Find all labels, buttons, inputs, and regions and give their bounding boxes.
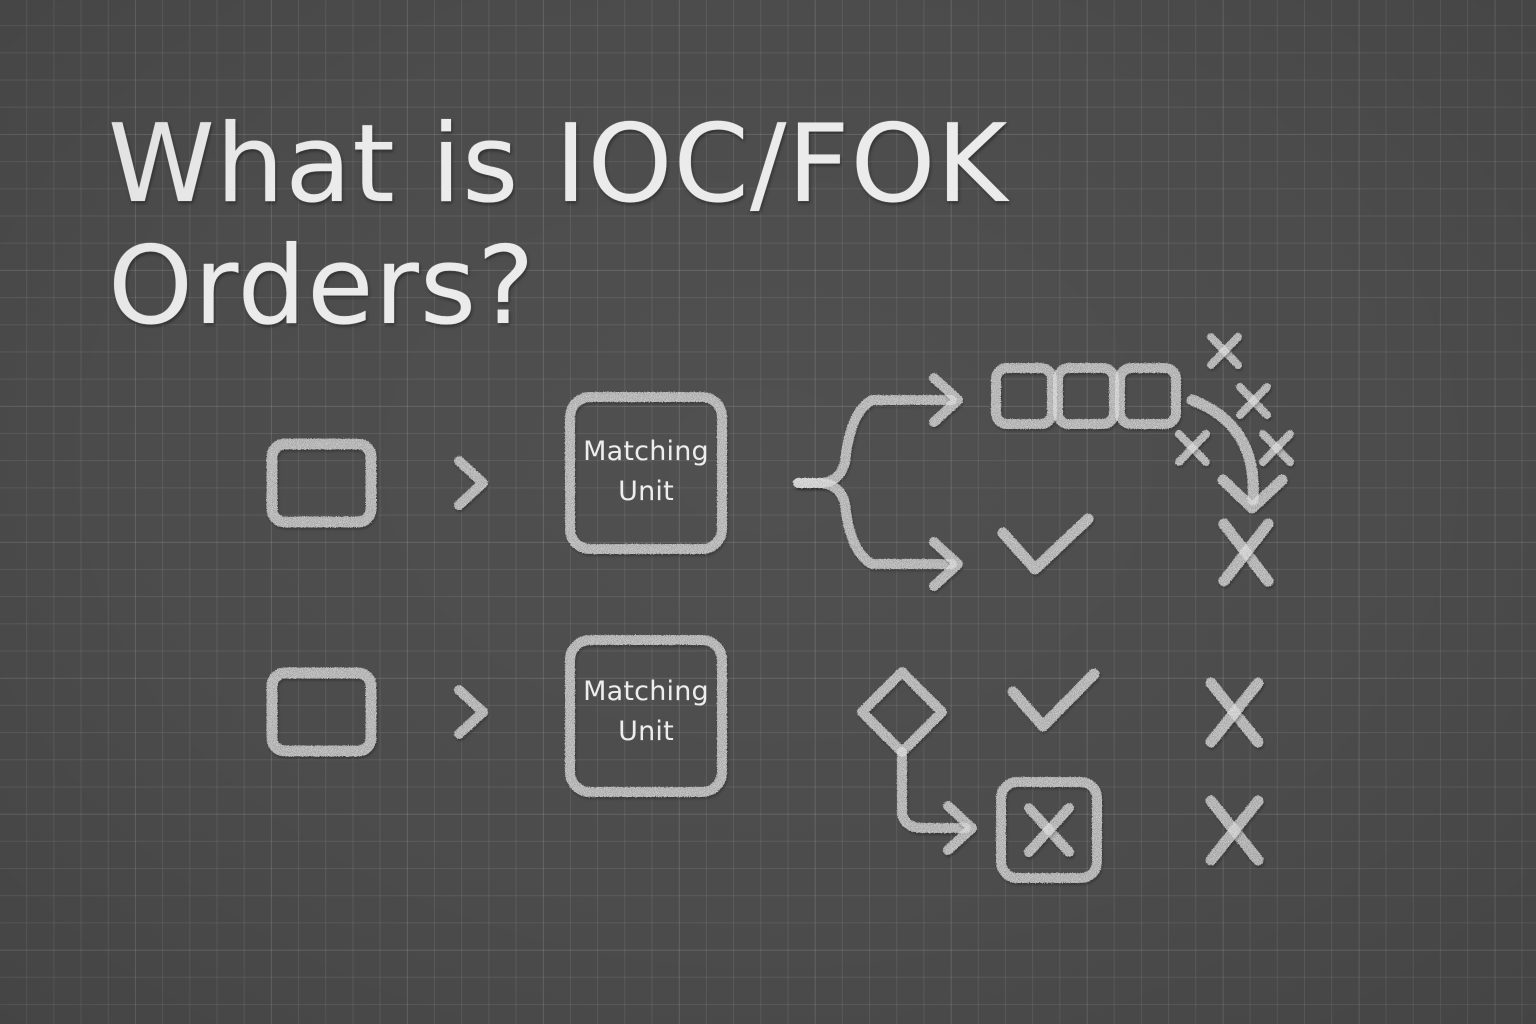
diagram-canvas: Matching Unit <box>0 0 1536 1024</box>
input-stream-dashes <box>506 435 544 531</box>
small-x-icon-right <box>1263 434 1290 462</box>
cancel-remainder-x-icon <box>1224 524 1268 581</box>
fill-all-check-icon <box>1013 674 1094 726</box>
input-arrow-icon <box>398 461 483 505</box>
partial-fill-check-icon <box>1003 519 1088 569</box>
output-stream-dashes <box>748 664 786 760</box>
small-x-icon-top <box>1211 337 1238 365</box>
matching-unit-label-line1: Matching <box>583 676 709 707</box>
matching-unit-box: Matching Unit <box>570 640 722 792</box>
matching-unit-box: Matching Unit <box>570 397 722 549</box>
reject-x-icon-bottom <box>1211 801 1258 860</box>
input-arrow-icon <box>398 690 483 734</box>
small-x-icon-left <box>1179 434 1206 462</box>
split-brace <box>798 378 958 586</box>
reject-x-icon-top <box>1211 683 1258 742</box>
filled-orders-squares <box>996 368 1176 424</box>
chalkboard-slide: What is IOC/FOK Orders? <box>0 0 1536 1024</box>
matching-unit-label-line1: Matching <box>583 436 709 467</box>
matching-unit-label-line2: Unit <box>618 716 674 747</box>
small-x-icon-upper-right <box>1240 387 1267 415</box>
input-stream-dashes <box>506 664 544 760</box>
matching-unit-label-line2: Unit <box>618 476 674 507</box>
order-stack-icon <box>272 444 371 522</box>
output-stream-dashes <box>748 435 786 531</box>
ioc-flow-row: Matching Unit <box>272 337 1290 586</box>
decision-diamond <box>798 672 996 850</box>
fok-flow-row: Matching Unit <box>272 640 1258 878</box>
kill-order-box-x <box>1001 782 1097 878</box>
order-stack-icon <box>272 673 371 751</box>
